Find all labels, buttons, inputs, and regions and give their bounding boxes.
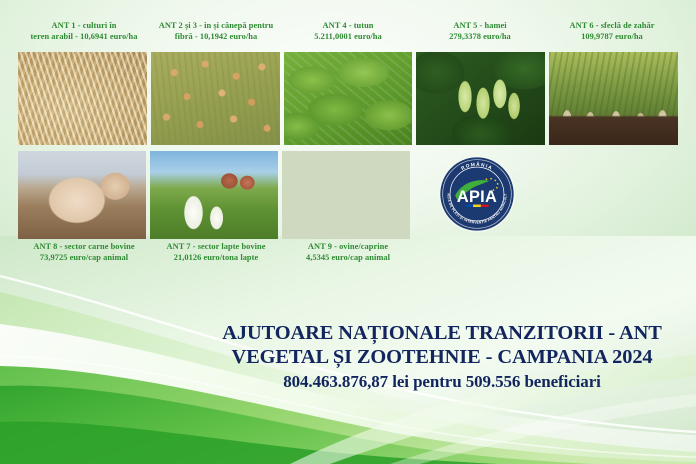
headline-line-1: AJUTOARE NAȚIONALE TRANZITORII - ANT bbox=[196, 322, 688, 346]
label-ant-6: ANT 6 - sfeclă de zahăr 109,9787 euro/ha bbox=[546, 21, 678, 42]
headline-subline: 804.463.876,87 lei pentru 509.556 benefi… bbox=[196, 371, 688, 393]
headline-block: AJUTOARE NAȚIONALE TRANZITORII - ANT VEG… bbox=[196, 322, 688, 393]
headline-line-2: VEGETAL ȘI ZOOTEHNIE - CAMPANIA 2024 bbox=[196, 346, 688, 370]
label-ant-7: ANT 7 - sector lapte bovine 21,0126 euro… bbox=[150, 242, 282, 263]
logo-wordmark: APIA bbox=[457, 188, 497, 206]
apia-logo: ROMÂNIA AGENȚIA DE PLĂȚI ȘI INTERVENȚIE … bbox=[438, 155, 516, 233]
image-beef-cattle bbox=[18, 151, 146, 239]
label-ant-6-line1: ANT 6 - sfeclă de zahăr bbox=[570, 21, 655, 30]
top-row-labels: ANT 1 - culturi în teren arabil - 10,694… bbox=[18, 21, 678, 42]
label-ant-9-line2: 4,5345 euro/cap animal bbox=[283, 253, 413, 264]
crop-image-row bbox=[18, 52, 678, 145]
image-hops-plant bbox=[416, 52, 545, 145]
label-ant-9: ANT 9 - ovine/caprine 4,5345 euro/cap an… bbox=[282, 242, 414, 263]
label-ant-2-3: ANT 2 și 3 - in și cânepă pentru fibră -… bbox=[150, 21, 282, 42]
label-ant-7-line2: 21,0126 euro/tona lapte bbox=[151, 253, 281, 264]
apia-ant-2024-poster: ANT 1 - culturi în teren arabil - 10,694… bbox=[0, 0, 696, 464]
label-ant-4-line1: ANT 4 - tutun bbox=[323, 21, 374, 30]
label-ant-5-line2: 279,3378 euro/ha bbox=[415, 32, 545, 43]
label-ant-8-line2: 73,9725 euro/cap animal bbox=[19, 253, 149, 264]
label-ant-7-line1: ANT 7 - sector lapte bovine bbox=[167, 242, 266, 251]
image-sheep bbox=[282, 151, 410, 239]
label-ant-1-line2: teren arabil - 10,6941 euro/ha bbox=[19, 32, 149, 43]
image-flax-hemp-field bbox=[151, 52, 280, 145]
label-ant-4-line2: 5.211,0001 euro/ha bbox=[283, 32, 413, 43]
label-ant-8: ANT 8 - sector carne bovine 73,9725 euro… bbox=[18, 242, 150, 263]
image-dairy-cows-milk bbox=[150, 151, 278, 239]
label-ant-6-line2: 109,9787 euro/ha bbox=[547, 32, 677, 43]
bottom-row-labels: ANT 8 - sector carne bovine 73,9725 euro… bbox=[18, 242, 678, 263]
label-ant-1: ANT 1 - culturi în teren arabil - 10,694… bbox=[18, 21, 150, 42]
crop-and-livestock-gallery: ANT 1 - culturi în teren arabil - 10,694… bbox=[0, 0, 696, 272]
image-sugar-beet-field bbox=[549, 52, 678, 145]
label-ant-5-line1: ANT 5 - hamei bbox=[453, 21, 506, 30]
label-ant-8-line1: ANT 8 - sector carne bovine bbox=[33, 242, 134, 251]
label-ant-1-line1: ANT 1 - culturi în bbox=[52, 21, 117, 30]
label-ant-2-3-line2: fibră - 10,1942 euro/ha bbox=[151, 32, 281, 43]
romanian-flag-icon bbox=[465, 205, 488, 207]
label-ant-2-3-line1: ANT 2 și 3 - in și cânepă pentru bbox=[159, 21, 274, 30]
label-ant-5: ANT 5 - hamei 279,3378 euro/ha bbox=[414, 21, 546, 42]
label-ant-4: ANT 4 - tutun 5.211,0001 euro/ha bbox=[282, 21, 414, 42]
image-wheat-field bbox=[18, 52, 147, 145]
image-tobacco-field bbox=[284, 52, 413, 145]
label-ant-9-line1: ANT 9 - ovine/caprine bbox=[308, 242, 388, 251]
livestock-image-row bbox=[18, 151, 678, 239]
